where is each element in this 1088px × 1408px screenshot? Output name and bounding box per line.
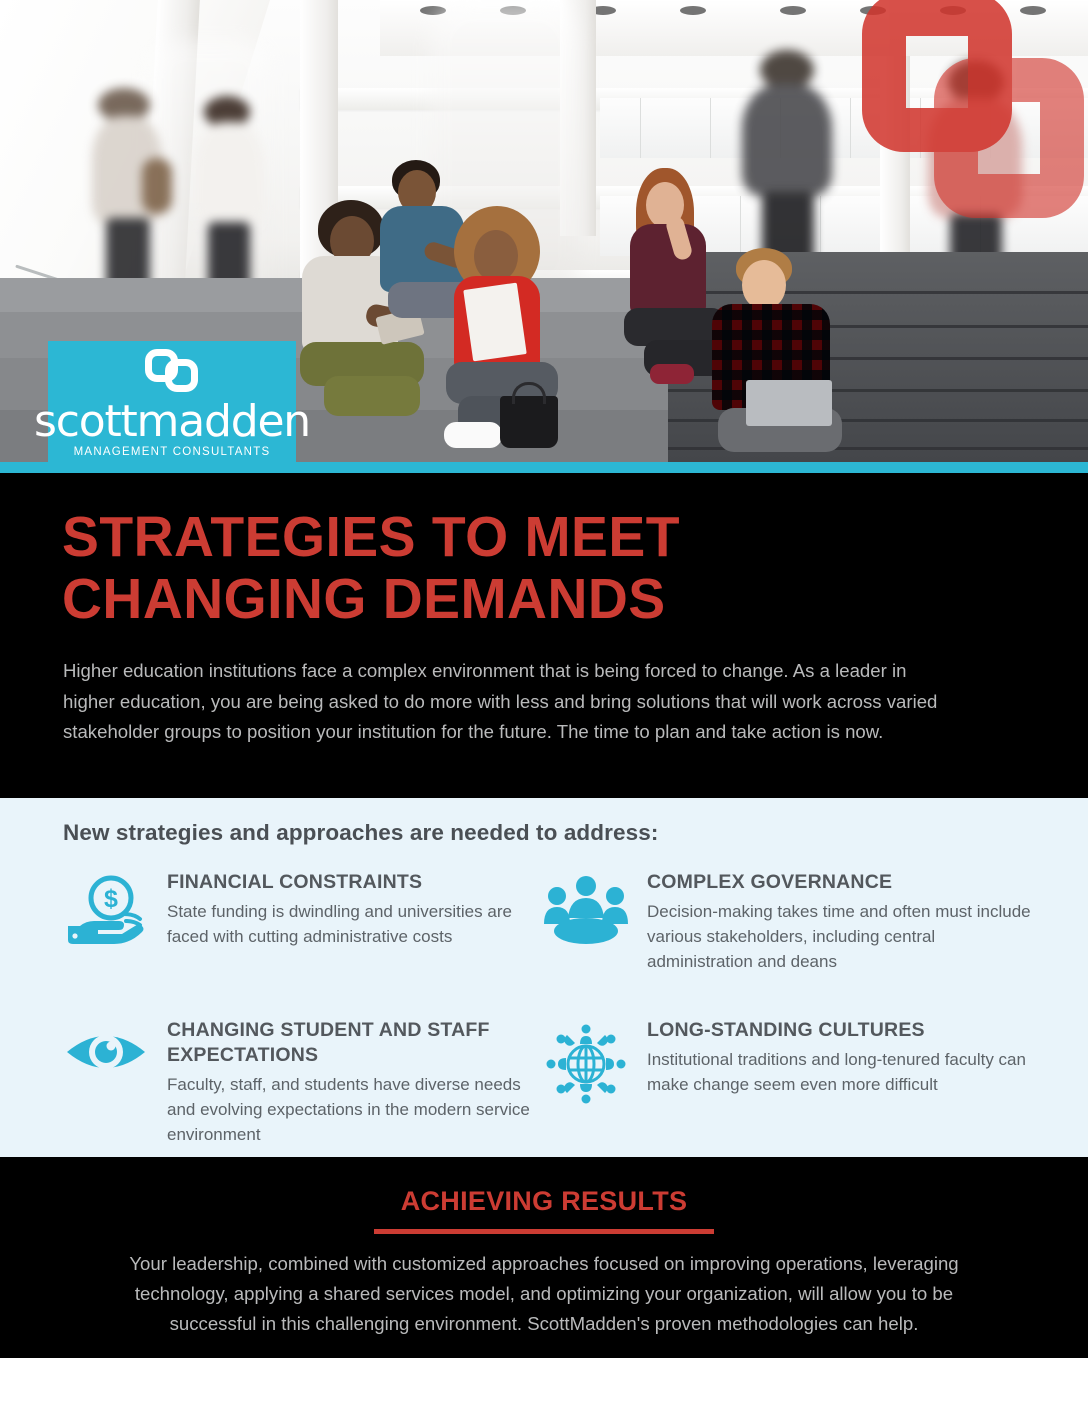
hero-image: scottmadden MANAGEMENT CONSULTANTS: [0, 0, 1088, 462]
feature-heading: FINANCIAL CONSTRAINTS: [167, 870, 543, 895]
headline-line-1: STRATEGIES TO MEET: [62, 506, 857, 568]
feature-heading: CHANGING STUDENT AND STAFF EXPECTATIONS: [167, 1018, 543, 1068]
eye-icon: [63, 1018, 149, 1096]
page-footer-whitespace: [0, 1358, 1088, 1408]
group-of-people-icon: [543, 870, 629, 948]
results-paragraph: Your leadership, combined with customize…: [0, 1249, 1088, 1339]
feature-body: State funding is dwindling and universit…: [167, 899, 543, 949]
features-row: $ FINANCIAL CONSTRAINTS State funding is…: [63, 870, 1038, 974]
feature-item-long-standing-cultures: LONG-STANDING CULTURES Institutional tra…: [543, 1018, 1038, 1147]
seated-student: [712, 248, 872, 462]
svg-text:$: $: [104, 885, 118, 913]
features-heading: New strategies and approaches are needed…: [63, 820, 658, 846]
handbag: [500, 396, 558, 448]
brand-watermark-icon: [848, 0, 1088, 230]
results-underline: [374, 1229, 714, 1234]
intro-paragraph: Higher education institutions face a com…: [63, 656, 948, 748]
teal-divider: [0, 462, 1088, 473]
scottmadden-logo: scottmadden MANAGEMENT CONSULTANTS: [48, 341, 296, 462]
features-grid: $ FINANCIAL CONSTRAINTS State funding is…: [63, 870, 1038, 1147]
intro-section: STRATEGIES TO MEET CHANGING DEMANDS High…: [0, 473, 1088, 798]
feature-body: Decision-making takes time and often mus…: [647, 899, 1038, 974]
logo-wordmark: scottmadden: [34, 399, 310, 445]
flyer-page: scottmadden MANAGEMENT CONSULTANTS STRAT…: [0, 0, 1088, 1408]
features-section: New strategies and approaches are needed…: [0, 798, 1088, 1157]
scottmadden-mark-icon: [145, 349, 199, 397]
feature-heading: COMPLEX GOVERNANCE: [647, 870, 1038, 895]
feature-body: Institutional traditions and long-tenure…: [647, 1047, 1038, 1097]
results-section: ACHIEVING RESULTS Your leadership, combi…: [0, 1157, 1088, 1358]
feature-item-financial-constraints: $ FINANCIAL CONSTRAINTS State funding is…: [63, 870, 543, 974]
logo-tagline: MANAGEMENT CONSULTANTS: [74, 446, 271, 458]
feature-body: Faculty, staff, and students have divers…: [167, 1072, 543, 1147]
globe-with-people-icon: [543, 1018, 629, 1096]
results-heading: ACHIEVING RESULTS: [0, 1186, 1088, 1217]
hand-holding-coin-icon: $: [63, 870, 149, 948]
headline-line-2: CHANGING DEMANDS: [62, 568, 857, 630]
feature-item-complex-governance: COMPLEX GOVERNANCE Decision-making takes…: [543, 870, 1038, 974]
feature-item-changing-expectations: CHANGING STUDENT AND STAFF EXPECTATIONS …: [63, 1018, 543, 1147]
feature-heading: LONG-STANDING CULTURES: [647, 1018, 1038, 1043]
features-row: CHANGING STUDENT AND STAFF EXPECTATIONS …: [63, 1018, 1038, 1147]
page-title: STRATEGIES TO MEET CHANGING DEMANDS: [62, 506, 857, 630]
